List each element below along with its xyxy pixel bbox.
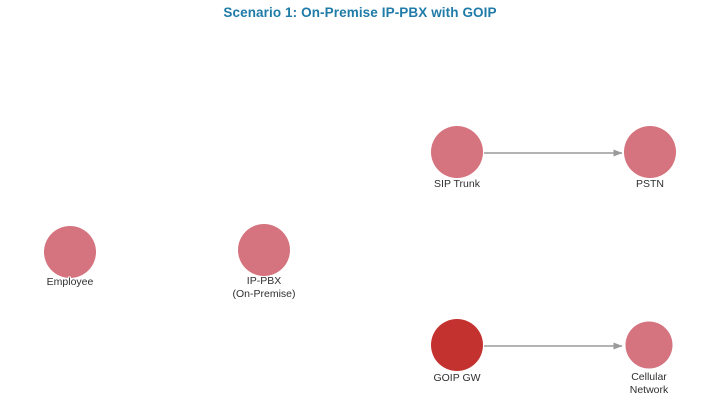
node-label-pstn: PSTN (585, 178, 715, 191)
node-label-cellular-network: Cellular Network (584, 371, 714, 396)
node-sip-trunk[interactable] (431, 126, 483, 178)
node-cellular-network[interactable] (626, 322, 673, 369)
node-employee[interactable] (44, 226, 96, 278)
node-ip-pbx[interactable] (238, 224, 290, 276)
node-label-sip-trunk: SIP Trunk (387, 178, 527, 191)
node-label-employee: Employee (0, 276, 140, 289)
diagram-canvas: Scenario 1: On-Premise IP-PBX with GOIP … (0, 0, 720, 414)
diagram-title: Scenario 1: On-Premise IP-PBX with GOIP (0, 5, 720, 20)
node-pstn[interactable] (624, 126, 676, 178)
node-label-goip-gw: GOIP GW (387, 372, 527, 385)
node-label-ip-pbx: IP-PBX (On-Premise) (184, 275, 344, 300)
edge-layer (0, 0, 720, 414)
node-goip-gw[interactable] (431, 319, 483, 371)
